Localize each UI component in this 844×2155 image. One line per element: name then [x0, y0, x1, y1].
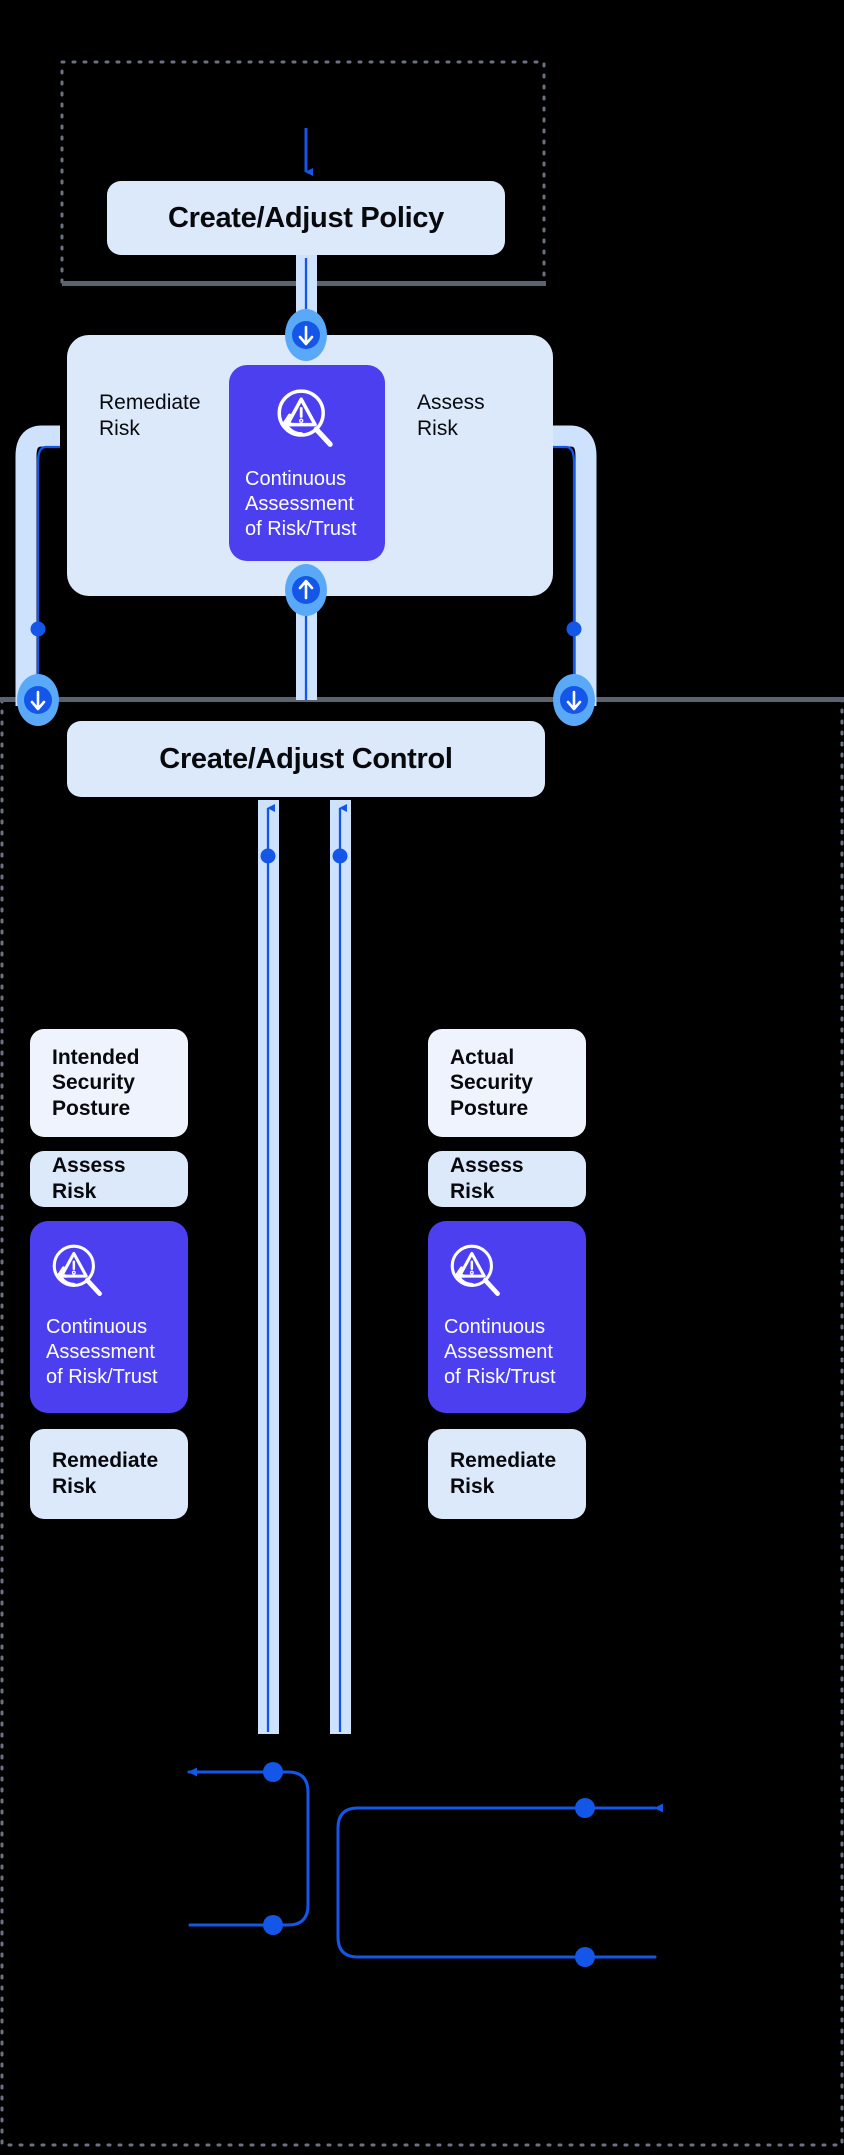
down-arrow-badge-right [553, 674, 595, 726]
down-arrow-badge-policy [285, 309, 327, 361]
badge-layer [0, 0, 844, 2155]
up-arrow-badge-middle [285, 564, 327, 616]
diagram-canvas: Create/Adjust Policy Remediate Risk Asse… [0, 0, 844, 2155]
down-arrow-badge-left [17, 674, 59, 726]
